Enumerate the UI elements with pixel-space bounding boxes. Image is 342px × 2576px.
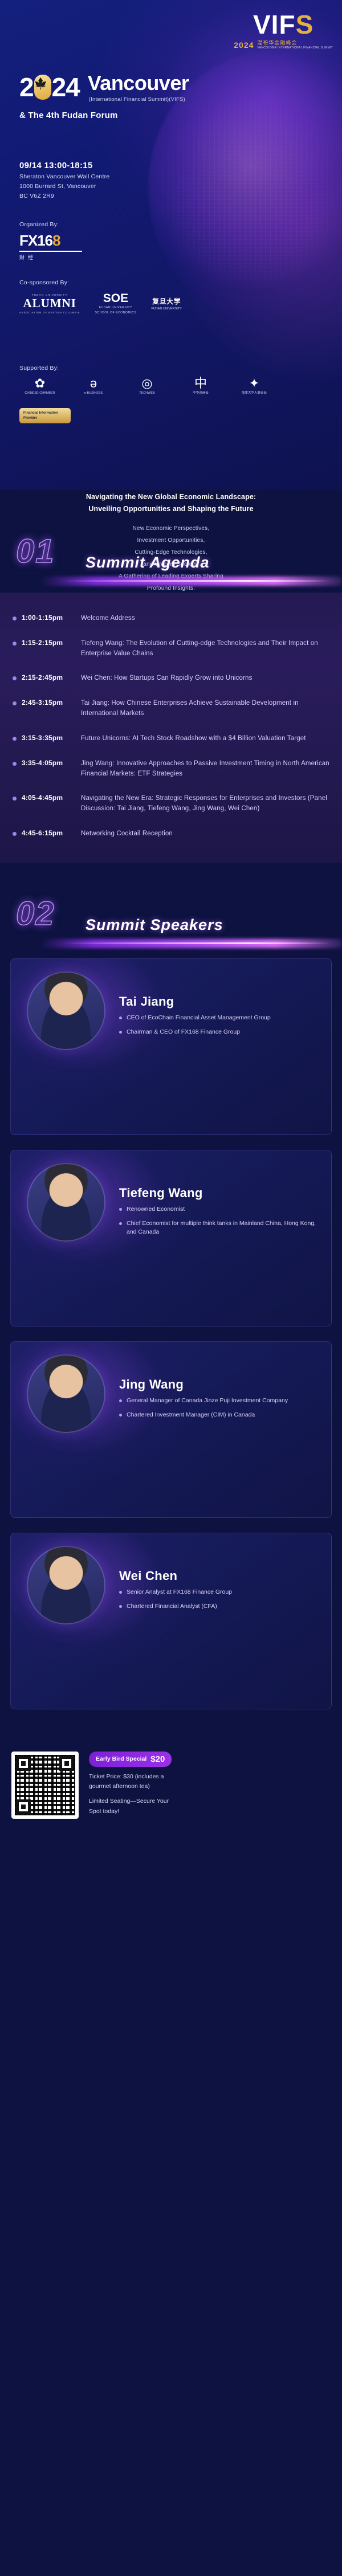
maple-leaf-icon (34, 75, 51, 100)
speaker-bullet: Chartered Financial Analyst (CFA) (119, 1602, 319, 1611)
agenda-description: Navigating the New Era: Strategic Respon… (81, 794, 329, 814)
bullet-dot-icon (119, 1016, 122, 1019)
qr-eye-icon (16, 1799, 31, 1814)
speaker-bullet-text: Chairman & CEO of FX168 Finance Group (127, 1028, 240, 1037)
speaker-bullet: Chief Economist for multiple think tanks… (119, 1219, 319, 1238)
venue-line-3: BC V6Z 2R9 (19, 193, 109, 199)
financial-info-badge: Financial Information Provider (19, 408, 71, 423)
agenda-section-title: Summit Agenda (85, 554, 210, 571)
hero-year: 224 (19, 72, 80, 103)
venue-line-2: 1000 Burrard St, Vancouver (19, 183, 109, 190)
avatar (27, 1163, 105, 1242)
speaker-bullet-text: Renowned Economist (127, 1205, 185, 1214)
supporter-4-icon: 中 (194, 377, 207, 390)
supporter-logo: ə e-BUSINESS (73, 377, 114, 395)
agenda-row[interactable]: 2:45-3:15pm Tai Jiang: How Chinese Enter… (0, 691, 342, 726)
speakers-section-header: 02 Summit Speakers (0, 887, 342, 955)
agenda-description: Networking Cocktail Reception (81, 829, 329, 839)
supported-by-label: Supported By: (19, 365, 316, 372)
speaker-card[interactable]: Wei Chen Senior Analyst at FX168 Finance… (10, 1533, 332, 1709)
supporter-3-icon: ◎ (141, 377, 152, 390)
agenda-list: 1:00-1:15pm Welcome Address 1:15-2:15pm … (0, 593, 342, 863)
bullet-dot-icon (119, 1591, 122, 1594)
agenda-time: 1:15-2:15pm (22, 639, 81, 647)
fudan-logo-main: 复旦大学 (151, 296, 181, 306)
speaker-bullet-text: Chief Economist for multiple think tanks… (127, 1219, 319, 1238)
bullet-dot-icon (119, 1031, 122, 1034)
agenda-row[interactable]: 4:05-4:45pm Navigating the New Era: Stra… (0, 786, 342, 822)
fudan-logo: 复旦大学 FUDAN UNIVERSITY (151, 296, 181, 311)
agenda-header-highlight (63, 580, 331, 582)
early-bird-price: $20 (150, 1754, 165, 1764)
bullet-dot-icon (13, 676, 17, 680)
agenda-time: 4:45-6:15pm (22, 829, 81, 837)
supporter-logo: ✿ CHINESE CHAMBER (19, 377, 60, 395)
alumni-logo-bottom: ASSOCIATION OF BRITISH COLUMBIA (19, 311, 80, 314)
supporters-block: Supported By: ✿ CHINESE CHAMBER ə e-BUSI… (19, 365, 316, 423)
agenda-row[interactable]: 3:35-4:05pm Jing Wang: Innovative Approa… (0, 752, 342, 787)
bullet-dot-icon (119, 1414, 122, 1416)
bullet-dot-icon (119, 1208, 122, 1211)
agenda-description: Tai Jiang: How Chinese Enterprises Achie… (81, 699, 329, 719)
speaker-card[interactable]: Jing Wang General Manager of Canada Jinz… (10, 1341, 332, 1518)
agenda-description: Jing Wang: Innovative Approaches to Pass… (81, 759, 329, 779)
speaker-name: Jing Wang (119, 1377, 184, 1392)
fx168-chinese: 财经 (19, 254, 82, 261)
speaker-bullet: Senior Analyst at FX168 Finance Group (119, 1588, 319, 1597)
soe-logo-sub1: FUDAN UNIVERSITY (95, 306, 136, 311)
supporter-2-name: e-BUSINESS (84, 391, 103, 395)
speaker-bullet-text: CEO of EcoChain Financial Asset Manageme… (127, 1014, 271, 1023)
speaker-bullet-text: Senior Analyst at FX168 Finance Group (127, 1588, 232, 1597)
speakers-section-title: Summit Speakers (85, 916, 223, 934)
organized-by-label: Organized By: (19, 221, 82, 228)
hero-banner: VIFS 2024 温哥华金融峰会 VANCOUVER INTERNATIONA… (0, 0, 342, 490)
speaker-bio: General Manager of Canada Jinze Puji Inv… (119, 1397, 319, 1425)
supporter-logo: 中 中华总商会 (180, 377, 221, 395)
venue-line-1: Sheraton Vancouver Wall Centre (19, 173, 109, 180)
speaker-bullet: Chairman & CEO of FX168 Finance Group (119, 1028, 319, 1037)
qr-eye-icon (16, 1756, 31, 1771)
hero-year-part2: 24 (52, 72, 80, 102)
bullet-dot-icon (13, 701, 17, 705)
speakers-list: Tai Jiang CEO of EcoChain Financial Asse… (0, 955, 342, 1741)
qr-code-pattern (15, 1755, 75, 1815)
agenda-description: Welcome Address (81, 614, 329, 624)
fx168-logo: FX168 财经 (19, 232, 82, 261)
speaker-bullet: Renowned Economist (119, 1205, 319, 1214)
avatar (27, 1546, 105, 1624)
hero-title-block: 224 Vancouver (International Financial S… (19, 71, 189, 120)
soe-logo: SOE FUDAN UNIVERSITY SCHOOL OF ECONOMICS (95, 292, 136, 315)
logo-word-s: S (296, 10, 314, 39)
fx168-rule (19, 251, 82, 252)
supporter-3-name: TECHWEB (139, 391, 155, 395)
supporter-1-name: CHINESE CHAMBER (25, 391, 55, 395)
tagline-heading-2: Unveiling Opportunities and Shaping the … (0, 503, 342, 515)
speaker-bio: Renowned Economist Chief Economist for m… (119, 1205, 319, 1242)
speaker-bullet-text: Chartered Financial Analyst (CFA) (127, 1602, 217, 1611)
qr-eye-icon (59, 1756, 74, 1771)
speaker-name: Tiefeng Wang (119, 1186, 203, 1201)
ticket-price-line-2: gourmet afternoon tea) (89, 1782, 331, 1791)
bullet-dot-icon (13, 617, 17, 620)
agenda-description: Future Unicorns: AI Tech Stock Roadshow … (81, 734, 329, 744)
bullet-dot-icon (119, 1605, 122, 1608)
event-info-block: 09/14 13:00-18:15 Sheraton Vancouver Wal… (19, 161, 109, 199)
agenda-row[interactable]: 3:15-3:35pm Future Unicorns: AI Tech Sto… (0, 726, 342, 752)
speakers-section-number: 02 (16, 895, 55, 933)
speaker-bullet: General Manager of Canada Jinze Puji Inv… (119, 1397, 319, 1406)
hero-city-name: Vancouver (88, 71, 189, 95)
ticket-block: Early Bird Special $20 Ticket Price: $30… (0, 1741, 342, 1842)
agenda-row[interactable]: 1:00-1:15pm Welcome Address (0, 606, 342, 631)
bullet-dot-icon (13, 762, 17, 766)
speaker-bullet-text: Chartered Investment Manager (CIM) in Ca… (127, 1411, 255, 1420)
soe-logo-main: SOE (95, 292, 136, 305)
ticket-seating-line-1: Limited Seating—Secure Your (89, 1797, 331, 1806)
fx168-accent: 8 (52, 232, 60, 249)
ticket-price-line-1: Ticket Price: $30 (includes a (89, 1772, 331, 1782)
speaker-name: Wei Chen (119, 1569, 177, 1583)
supporter-5-name: 加拿大华人联合会 (242, 391, 267, 395)
vifs-logo: VIFS 2024 温哥华金融峰会 VANCOUVER INTERNATIONA… (234, 11, 333, 50)
speaker-card[interactable]: Tiefeng Wang Renowned Economist Chief Ec… (10, 1150, 332, 1326)
fx168-word: FX16 (19, 232, 52, 249)
supporter-2-icon: ə (90, 377, 97, 390)
hero-year-part1: 2 (19, 72, 34, 102)
bullet-dot-icon (13, 642, 17, 646)
speakers-header-highlight (63, 942, 331, 944)
avatar (27, 971, 105, 1050)
tagline-heading-1: Navigating the New Global Economic Lands… (0, 491, 342, 503)
bullet-dot-icon (119, 1399, 122, 1402)
bullet-dot-icon (13, 832, 17, 836)
agenda-section-number: 01 (16, 532, 55, 570)
speaker-card[interactable]: Tai Jiang CEO of EcoChain Financial Asse… (10, 958, 332, 1135)
ticket-details: Early Bird Special $20 Ticket Price: $30… (89, 1752, 331, 1816)
logo-cn-line1: 温哥华金融峰会 (257, 40, 297, 46)
speaker-bullet: Chartered Investment Manager (CIM) in Ca… (119, 1411, 319, 1420)
speaker-name: Tai Jiang (119, 994, 174, 1009)
alumni-logo-main: ALUMNI (19, 296, 80, 311)
agenda-time: 3:35-4:05pm (22, 759, 81, 767)
logo-cn-line2: VANCOUVER INTERNATIONAL FINANCIAL SUMMIT (257, 46, 333, 50)
organizer-block: Organized By: FX168 财经 (19, 221, 82, 261)
agenda-description: Tiefeng Wang: The Evolution of Cutting-e… (81, 639, 329, 659)
avatar (27, 1354, 105, 1433)
agenda-time: 2:15-2:45pm (22, 673, 81, 681)
bullet-dot-icon (13, 797, 17, 801)
agenda-description: Wei Chen: How Startups Can Rapidly Grow … (81, 673, 329, 684)
bullet-dot-icon (13, 737, 17, 741)
cosponsor-block: Co-sponsored By: FUDAN UNIVERSITY ALUMNI… (19, 279, 182, 315)
speaker-bio: CEO of EcoChain Financial Asset Manageme… (119, 1014, 319, 1042)
ticket-seating-line-2: Spot today! (89, 1807, 331, 1816)
supporter-4-name: 中华总商会 (193, 391, 209, 395)
supporter-logo: ✦ 加拿大华人联合会 (234, 377, 275, 395)
agenda-time: 1:00-1:15pm (22, 614, 81, 622)
supporter-logo: ◎ TECHWEB (127, 377, 168, 395)
agenda-time: 3:15-3:35pm (22, 734, 81, 742)
logo-year: 2024 (234, 41, 254, 49)
agenda-time: 2:45-3:15pm (22, 699, 81, 707)
fudan-logo-sub: FUDAN UNIVERSITY (151, 307, 181, 311)
early-bird-badge[interactable]: Early Bird Special $20 (89, 1752, 172, 1767)
cosponsored-by-label: Co-sponsored By: (19, 279, 182, 286)
agenda-row[interactable]: 2:15-2:45pm Wei Chen: How Startups Can R… (0, 666, 342, 691)
qr-code[interactable] (11, 1752, 79, 1819)
hero-full-name: (International Financial Summit)(VIFS) (89, 96, 189, 103)
logo-word-vif: VIF (253, 10, 296, 39)
agenda-time: 4:05-4:45pm (22, 794, 81, 802)
supporter-1-icon: ✿ (35, 377, 45, 390)
event-date-time: 09/14 13:00-18:15 (19, 161, 109, 170)
bullet-dot-icon (119, 1222, 122, 1225)
speaker-bullet-text: General Manager of Canada Jinze Puji Inv… (127, 1397, 288, 1406)
agenda-row[interactable]: 4:45-6:15pm Networking Cocktail Receptio… (0, 822, 342, 847)
speaker-bio: Senior Analyst at FX168 Finance Group Ch… (119, 1588, 319, 1616)
hero-fudan-forum: & The 4th Fudan Forum (19, 111, 189, 120)
agenda-section-header: 01 Summit Agenda (0, 524, 342, 593)
early-bird-label: Early Bird Special (96, 1756, 146, 1762)
speaker-bullet: CEO of EcoChain Financial Asset Manageme… (119, 1014, 319, 1023)
supporter-logo-row: ✿ CHINESE CHAMBER ə e-BUSINESS ◎ TECHWEB… (19, 377, 316, 423)
supporter-5-icon: ✦ (249, 377, 259, 390)
alumni-logo: FUDAN UNIVERSITY ALUMNI ASSOCIATION OF B… (19, 293, 80, 314)
agenda-row[interactable]: 1:15-2:15pm Tiefeng Wang: The Evolution … (0, 631, 342, 667)
soe-logo-sub2: SCHOOL OF ECONOMICS (95, 311, 136, 316)
